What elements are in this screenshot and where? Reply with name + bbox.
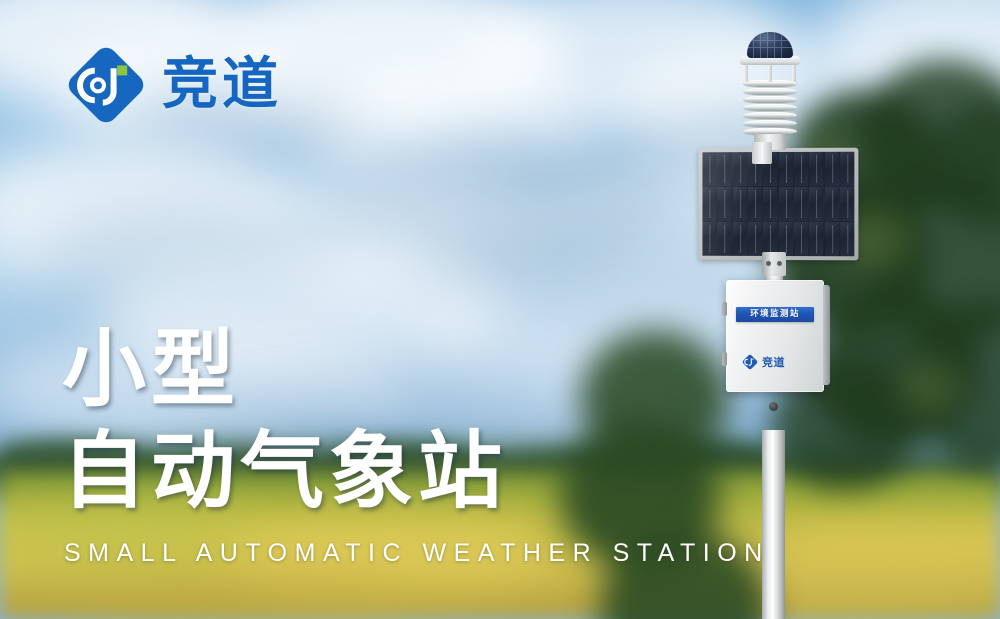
solar-cell <box>748 222 762 256</box>
solar-cell <box>794 222 808 256</box>
shield-plate <box>743 104 797 111</box>
solar-panel-mount-bracket <box>762 252 786 276</box>
solar-cell <box>825 187 839 221</box>
weather-station-device: 环境监测站 竞道 <box>690 30 880 619</box>
solar-cell <box>825 222 839 256</box>
headline-line-2: 自动气象站 <box>62 420 507 522</box>
enclosure-mount-lug <box>722 302 727 316</box>
enclosure-brand-name: 竞道 <box>762 357 785 368</box>
solar-cell <box>718 187 732 221</box>
enclosure-brand-logo: 竞道 <box>742 353 810 371</box>
ultrasonic-wind-sensor-icon <box>747 32 793 58</box>
solar-cell <box>779 222 793 256</box>
solar-cell <box>840 152 854 186</box>
solar-cell <box>718 152 732 186</box>
dome-grid-pattern <box>747 32 793 58</box>
sensor-junction-box <box>752 142 772 164</box>
bracket-bolt <box>766 261 771 266</box>
jingdao-diamond-logo-icon <box>742 354 758 370</box>
mounting-pole-lower <box>762 430 785 619</box>
page-title: 小型 自动气象站 <box>62 318 507 523</box>
solar-cell <box>840 222 854 256</box>
support-post <box>744 64 748 82</box>
solar-cell <box>748 187 762 221</box>
page-subtitle: SMALL AUTOMATIC WEATHER STATION <box>64 539 770 568</box>
solar-cell <box>718 222 732 256</box>
solar-cell <box>794 187 808 221</box>
shield-plate <box>743 112 797 119</box>
shield-plate <box>743 96 797 103</box>
support-post <box>792 64 796 82</box>
bracket-bolt <box>777 261 782 266</box>
solar-cell <box>702 152 716 186</box>
solar-cell <box>809 152 823 186</box>
shield-plate <box>743 120 797 127</box>
solar-cell <box>702 222 716 256</box>
weather-station-promo-banner: 环境监测站 竞道 竞道 小型 自动气象站 <box>0 0 1000 619</box>
foliage-highlight <box>900 360 960 415</box>
solar-cell <box>825 152 839 186</box>
radiation-shield <box>743 80 797 136</box>
solar-cell <box>733 187 747 221</box>
solar-panel <box>698 148 858 261</box>
solar-panel-cells <box>702 152 854 257</box>
headline-line-1: 小型 <box>62 318 507 420</box>
solar-cell <box>702 187 716 221</box>
enclosure-label-text: 环境监测站 <box>750 310 800 319</box>
brand-name: 竞道 <box>162 57 282 113</box>
enclosure-side-panel <box>823 285 830 385</box>
shield-plate <box>743 88 797 95</box>
control-enclosure: 环境监测站 竞道 <box>726 280 824 392</box>
solar-cell <box>794 152 808 186</box>
jingdao-diamond-logo-icon <box>66 45 146 125</box>
solar-cell <box>733 152 747 186</box>
support-post <box>768 64 772 82</box>
solar-cell <box>809 187 823 221</box>
solar-cell <box>763 222 777 256</box>
solar-cell <box>763 187 777 221</box>
solar-cell <box>840 187 854 221</box>
solar-cell <box>733 222 747 256</box>
sensor-support-posts <box>742 64 798 82</box>
solar-cell <box>809 222 823 256</box>
solar-cell <box>779 187 793 221</box>
enclosure-label-banner: 环境监测站 <box>736 307 814 322</box>
brand-logo: 竞道 <box>66 45 282 125</box>
pole-bolt <box>769 402 778 411</box>
solar-cell <box>779 152 793 186</box>
enclosure-mount-lug <box>722 352 727 366</box>
